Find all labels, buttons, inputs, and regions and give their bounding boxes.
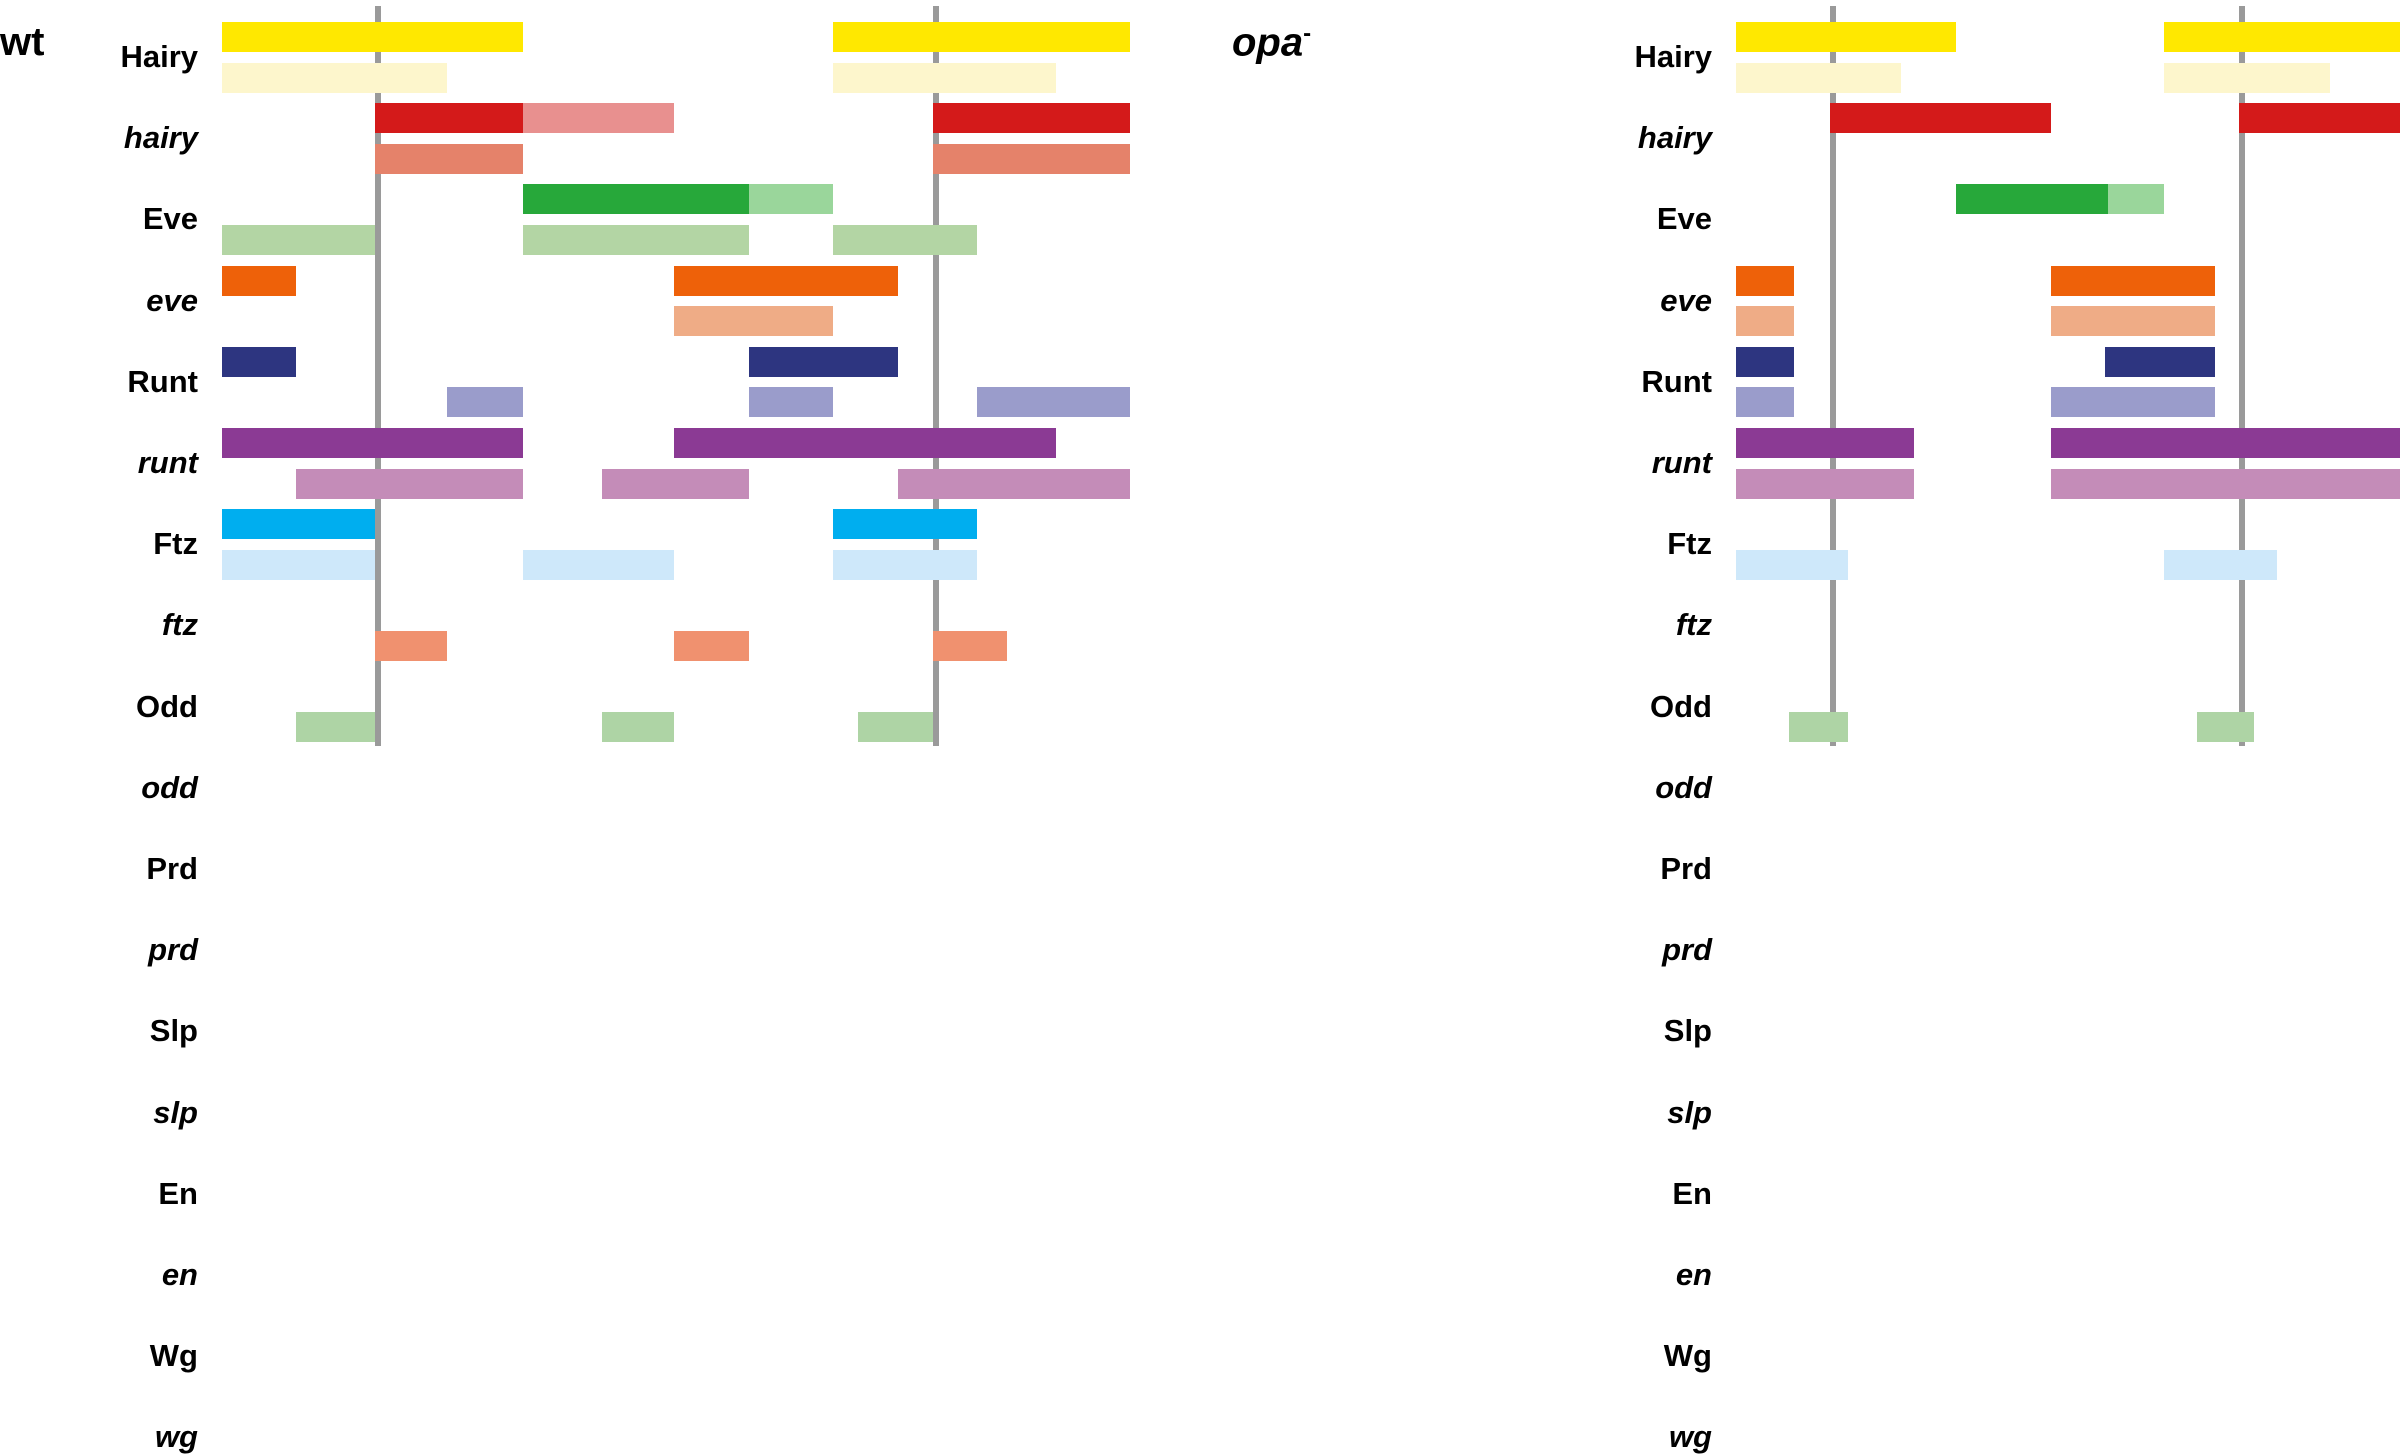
gene-row-hairy-protein: Hairy <box>0 22 2400 52</box>
expression-stripe <box>1789 712 1847 742</box>
figure-root: wt opa- HairyhairyEveeveRuntruntFtzftzOd… <box>0 0 2400 754</box>
gene-row-ftz-mrna: ftz <box>0 306 2400 336</box>
gene-row-slp-mrna: slp <box>0 550 2400 580</box>
expression-track <box>1736 509 2400 539</box>
expression-track <box>1736 347 2400 377</box>
row-label-wg-protein: Wg <box>0 1341 198 1371</box>
row-label-wg-mrna: wg <box>0 1422 198 1452</box>
expression-stripe <box>2197 712 2253 742</box>
panel-opa: HairyhairyEveeveRuntruntFtzftzOddoddPrdp… <box>0 0 2400 754</box>
expression-stripe <box>1736 428 1914 458</box>
gene-row-ftz-protein: Ftz <box>0 266 2400 296</box>
expression-stripe <box>1830 103 2051 133</box>
row-label-prd-mrna: prd <box>0 935 198 965</box>
row-label-prd-mrna: prd <box>1452 935 1712 965</box>
expression-track <box>1736 184 2400 214</box>
gene-row-wg-protein: Wg <box>0 672 2400 702</box>
row-label-wg-protein: Wg <box>1452 1341 1712 1371</box>
row-label-prd-protein: Prd <box>0 854 198 884</box>
gene-row-runt-mrna: runt <box>0 225 2400 255</box>
expression-stripe <box>2164 22 2400 52</box>
gene-row-slp-protein: Slp <box>0 509 2400 539</box>
expression-stripe <box>2164 550 2277 580</box>
expression-track <box>1736 631 2400 661</box>
expression-track <box>1736 225 2400 255</box>
expression-stripe <box>1736 306 1794 336</box>
row-label-slp-mrna: slp <box>1452 1098 1712 1128</box>
row-label-en-protein: En <box>1452 1179 1712 1209</box>
expression-stripe <box>1736 266 1794 296</box>
expression-stripe <box>2051 266 2215 296</box>
expression-stripe <box>2051 306 2215 336</box>
expression-track <box>1736 590 2400 620</box>
expression-stripe <box>1736 550 1848 580</box>
expression-track <box>1736 266 2400 296</box>
expression-track <box>1736 306 2400 336</box>
gene-row-hairy-mrna: hairy <box>0 63 2400 93</box>
expression-track <box>1736 144 2400 174</box>
expression-stripe <box>2051 387 2215 417</box>
row-label-slp-protein: Slp <box>0 1016 198 1046</box>
row-label-odd-mrna: odd <box>1452 773 1712 803</box>
expression-stripe <box>1736 347 1794 377</box>
gene-row-eve-protein: Eve <box>0 103 2400 133</box>
expression-track <box>1736 428 2400 458</box>
row-label-en-mrna: en <box>0 1260 198 1290</box>
gene-row-prd-mrna: prd <box>0 469 2400 499</box>
expression-stripe <box>1956 184 2107 214</box>
row-label-slp-mrna: slp <box>0 1098 198 1128</box>
expression-track <box>1736 469 2400 499</box>
expression-stripe <box>2108 184 2164 214</box>
expression-track <box>1736 63 2400 93</box>
expression-stripe <box>2105 347 2216 377</box>
row-label-odd-mrna: odd <box>0 773 198 803</box>
gene-row-eve-mrna: eve <box>0 144 2400 174</box>
gene-row-wg-mrna: wg <box>0 712 2400 742</box>
row-label-wg-mrna: wg <box>1452 1422 1712 1452</box>
expression-stripe <box>2051 428 2400 458</box>
expression-track <box>1736 712 2400 742</box>
row-label-en-mrna: en <box>1452 1260 1712 1290</box>
expression-track <box>1736 672 2400 702</box>
expression-stripe <box>1736 63 1901 93</box>
expression-stripe <box>1736 22 1956 52</box>
expression-track <box>1736 22 2400 52</box>
expression-stripe <box>2239 103 2400 133</box>
row-label-en-protein: En <box>0 1179 198 1209</box>
expression-stripe <box>1736 387 1794 417</box>
row-label-slp-protein: Slp <box>1452 1016 1712 1046</box>
expression-stripe <box>1736 469 1914 499</box>
gene-row-runt-protein: Runt <box>0 184 2400 214</box>
expression-track <box>1736 387 2400 417</box>
gene-row-en-mrna: en <box>0 631 2400 661</box>
gene-row-odd-mrna: odd <box>0 387 2400 417</box>
gene-row-odd-protein: Odd <box>0 347 2400 377</box>
expression-stripe <box>2051 469 2400 499</box>
expression-stripe <box>2164 63 2330 93</box>
gene-row-prd-protein: Prd <box>0 428 2400 458</box>
row-label-prd-protein: Prd <box>1452 854 1712 884</box>
expression-track <box>1736 103 2400 133</box>
expression-track <box>1736 550 2400 580</box>
gene-row-en-protein: En <box>0 590 2400 620</box>
